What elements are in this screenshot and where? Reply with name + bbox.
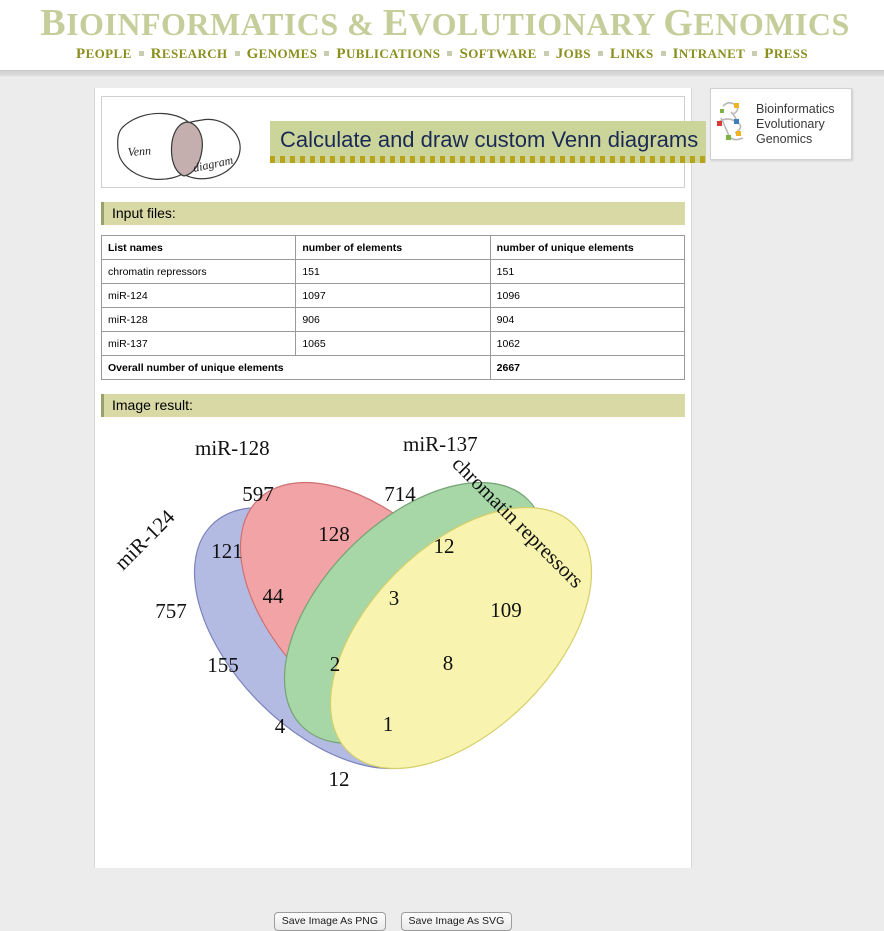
venn-count-all-four: 2 [330,652,341,676]
venn-count-mir137-only: 714 [384,482,416,506]
page-banner: Venn diagram Calculate and draw custom V… [101,96,685,188]
nav-separator-icon [661,51,666,56]
venn-diagram[interactable]: miR-124 miR-128 miR-137 chromatin repres… [103,423,683,823]
nav-item-publications[interactable]: PUBLICATIONS [336,46,440,63]
input-files-table: List names number of elements number of … [101,235,685,380]
main-content: Venn diagram Calculate and draw custom V… [94,88,692,868]
venn-sketch-logo-icon: Venn diagram [102,98,270,186]
nav-separator-icon [235,51,240,56]
save-buttons-row: Save Image As PNG Save Image As SVG [95,911,691,931]
cell-list-name: miR-128 [102,308,296,332]
venn-count-mir128-chromatin: 3 [389,586,400,610]
cell-elements: 906 [296,308,490,332]
column-header-list-names: List names [102,236,296,260]
nav-separator-icon [598,51,603,56]
cell-unique: 151 [490,260,684,284]
cell-list-name: miR-137 [102,332,296,356]
venn-count-mir124-only: 757 [155,599,187,623]
beg-logo-text: Bioinformatics Evolutionary Genomics [755,102,835,147]
cell-list-name: miR-124 [102,284,296,308]
nav-item-links[interactable]: LINKS [610,46,654,63]
cell-unique: 1096 [490,284,684,308]
beg-logo-line-1: Bioinformatics [756,102,835,117]
venn-count-mir124-mir137: 155 [207,653,239,677]
section-header-image-result: Image result: [101,394,685,417]
venn-count-mir124-mir137-chromatin: 4 [275,714,286,738]
venn-count-mir128-mir137: 128 [318,522,350,546]
venn-count-mir124-mir128: 121 [211,539,243,563]
site-nav[interactable]: PEOPLERESEARCHGENOMESPUBLICATIONSSOFTWAR… [0,43,884,68]
table-row: miR-124 1097 1096 [102,284,685,308]
column-header-number-of-unique-elements: number of unique elements [490,236,684,260]
nav-item-genomes[interactable]: GENOMES [247,46,318,63]
beg-logo-line-3: Genomics [756,132,835,147]
cell-elements: 1097 [296,284,490,308]
cell-overall-value: 2667 [490,356,684,380]
nav-separator-icon [139,51,144,56]
nav-item-jobs[interactable]: JOBS [556,46,591,63]
venn-count-mir128-only: 597 [242,482,274,506]
nav-separator-icon [447,51,452,56]
nav-item-software[interactable]: SOFTWARE [459,46,536,63]
cell-overall-label: Overall number of unique elements [102,356,491,380]
header-divider [0,70,884,78]
table-row: miR-137 1065 1062 [102,332,685,356]
page-body: Bioinformatics Evolutionary Genomics Ven… [0,78,884,865]
nav-item-intranet[interactable]: INTRANET [673,46,746,63]
banner-dotted-rule [270,156,706,163]
cell-unique: 1062 [490,332,684,356]
venn-count-mir128-mir137-chromatin: 8 [443,651,454,675]
venn-diagram-container: miR-124 miR-128 miR-137 chromatin repres… [95,423,691,828]
venn-count-mir124-chromatin: 12 [329,767,350,791]
section-header-input-files: Input files: [101,202,685,225]
table-row-overall: Overall number of unique elements 2667 [102,356,685,380]
site-header: BBioinformaticsIOINFORMATICS & EVOLUTION… [0,0,884,70]
table-header-row: List names number of elements number of … [102,236,685,260]
cell-unique: 904 [490,308,684,332]
column-header-number-of-elements: number of elements [296,236,490,260]
cell-elements: 1065 [296,332,490,356]
page-title: Calculate and draw custom Venn diagrams [270,121,706,156]
nav-item-press[interactable]: PRESS [764,46,808,63]
table-row: miR-128 906 904 [102,308,685,332]
nav-separator-icon [324,51,329,56]
nav-item-research[interactable]: RESEARCH [151,46,228,63]
save-svg-button[interactable]: Save Image As SVG [401,912,513,931]
venn-count-mir124-mir128-chromatin: 1 [383,712,394,736]
cell-list-name: chromatin repressors [102,260,296,284]
venn-set-label-mir128: miR-128 [195,436,270,460]
venn-count-mir124-mir128-mir137: 44 [263,584,285,608]
svg-text:Venn: Venn [127,143,151,159]
nav-separator-icon [544,51,549,56]
venn-count-mir137-chromatin: 12 [434,534,455,558]
beg-logo-line-2: Evolutionary [756,117,835,132]
venn-count-chromatin-only: 109 [490,598,522,622]
save-png-button[interactable]: Save Image As PNG [274,912,386,931]
cell-elements: 151 [296,260,490,284]
network-graph-icon [711,96,755,153]
nav-item-people[interactable]: PEOPLE [76,46,132,63]
beg-logo-box[interactable]: Bioinformatics Evolutionary Genomics [710,88,852,160]
venn-set-label-mir124: miR-124 [110,504,180,574]
nav-separator-icon [752,51,757,56]
table-row: chromatin repressors 151 151 [102,260,685,284]
site-title: BBioinformaticsIOINFORMATICS & EVOLUTION… [0,4,884,43]
